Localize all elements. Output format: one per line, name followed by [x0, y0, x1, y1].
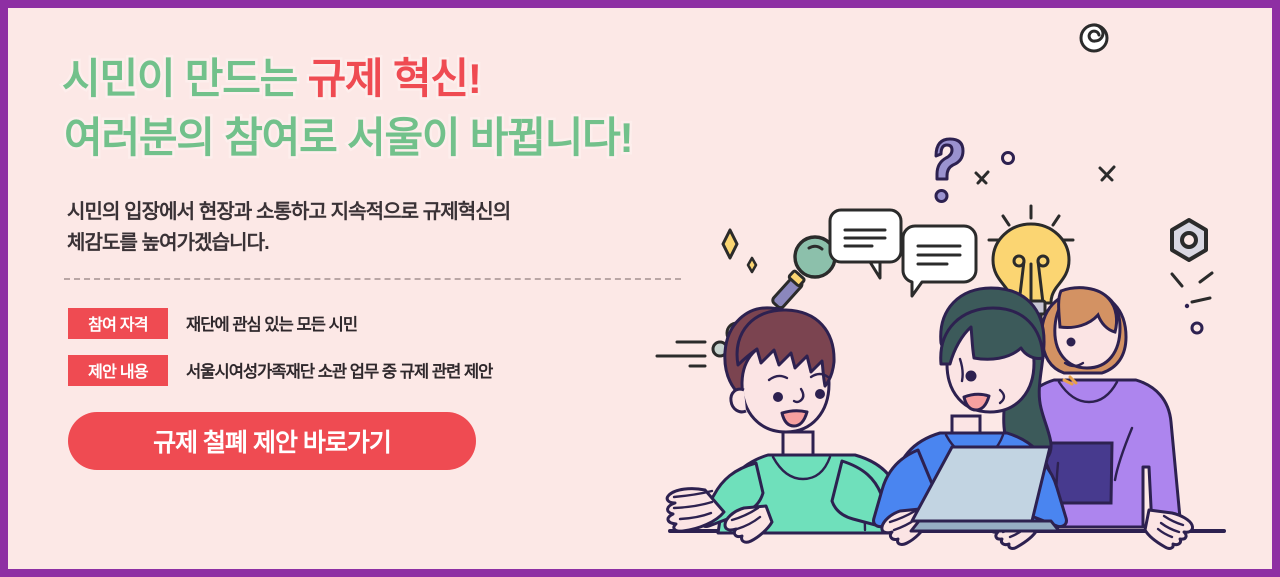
headline-line-2-green: 여러분의 참여로 서울이 바뀝니다! — [64, 114, 632, 161]
badge-eligibility: 참여 자격 — [68, 308, 168, 339]
speech-bubble-icon — [903, 226, 976, 296]
headline-line-1-green: 시민이 만드는 — [62, 55, 308, 102]
promo-banner: .ln { fill:none; stroke:#2d2150; stroke-… — [0, 0, 1280, 577]
illustration: .ln { fill:none; stroke:#2d2150; stroke-… — [652, 8, 1272, 569]
headline-line-1: 시민이 만드는 규제 혁신! — [62, 52, 722, 107]
circle-outline-icon — [1003, 153, 1014, 164]
dash-lines-icon — [1172, 273, 1212, 333]
info-row: 참여 자격 재단에 관심 있는 모든 시민 — [68, 308, 722, 339]
sparkle-icon — [723, 230, 737, 258]
headline: 시민이 만드는 규제 혁신! 여러분의 참여로 서울이 바뀝니다! — [62, 52, 722, 165]
go-to-proposal-button[interactable]: 규제 철폐 제안 바로가기 — [68, 412, 476, 470]
headline-line-1-red: 규제 혁신! — [308, 55, 481, 102]
subtitle-line-1: 시민의 입장에서 현장과 소통하고 지속적으로 규제혁신의 — [67, 197, 722, 227]
magnifier-icon — [771, 237, 835, 309]
proposal-text: 서울시여성가족재단 소관 업무 중 규제 관련 제안 — [186, 358, 492, 382]
info-row: 제안 내용 서울시여성가족재단 소관 업무 중 규제 관련 제안 — [68, 355, 722, 386]
sparkle-cross-icon — [1100, 167, 1114, 180]
dashed-divider — [64, 278, 681, 280]
badge-proposal: 제안 내용 — [68, 355, 168, 386]
spiral-icon — [1081, 25, 1107, 51]
subtitle: 시민의 입장에서 현장과 소통하고 지속적으로 규제혁신의 체감도를 높여가겠습… — [62, 197, 722, 258]
info-rows: 참여 자격 재단에 관심 있는 모든 시민 제안 내용 서울시여성가족재단 소관… — [68, 308, 722, 386]
character-woman-blue — [874, 288, 1067, 544]
banner-content: 시민이 만드는 규제 혁신! 여러분의 참여로 서울이 바뀝니다! 시민의 입장… — [62, 52, 722, 470]
eligibility-text: 재단에 관심 있는 모든 시민 — [186, 311, 357, 335]
sparkle-cross-icon — [976, 172, 988, 183]
question-mark-icon — [936, 139, 963, 202]
speech-bubble-icon — [830, 210, 901, 278]
hex-nut-icon — [1172, 220, 1206, 260]
subtitle-line-2: 체감도를 높여가겠습니다. — [67, 228, 722, 258]
headline-line-2: 여러분의 참여로 서울이 바뀝니다! — [62, 111, 722, 166]
sparkle-small-icon — [748, 258, 756, 272]
